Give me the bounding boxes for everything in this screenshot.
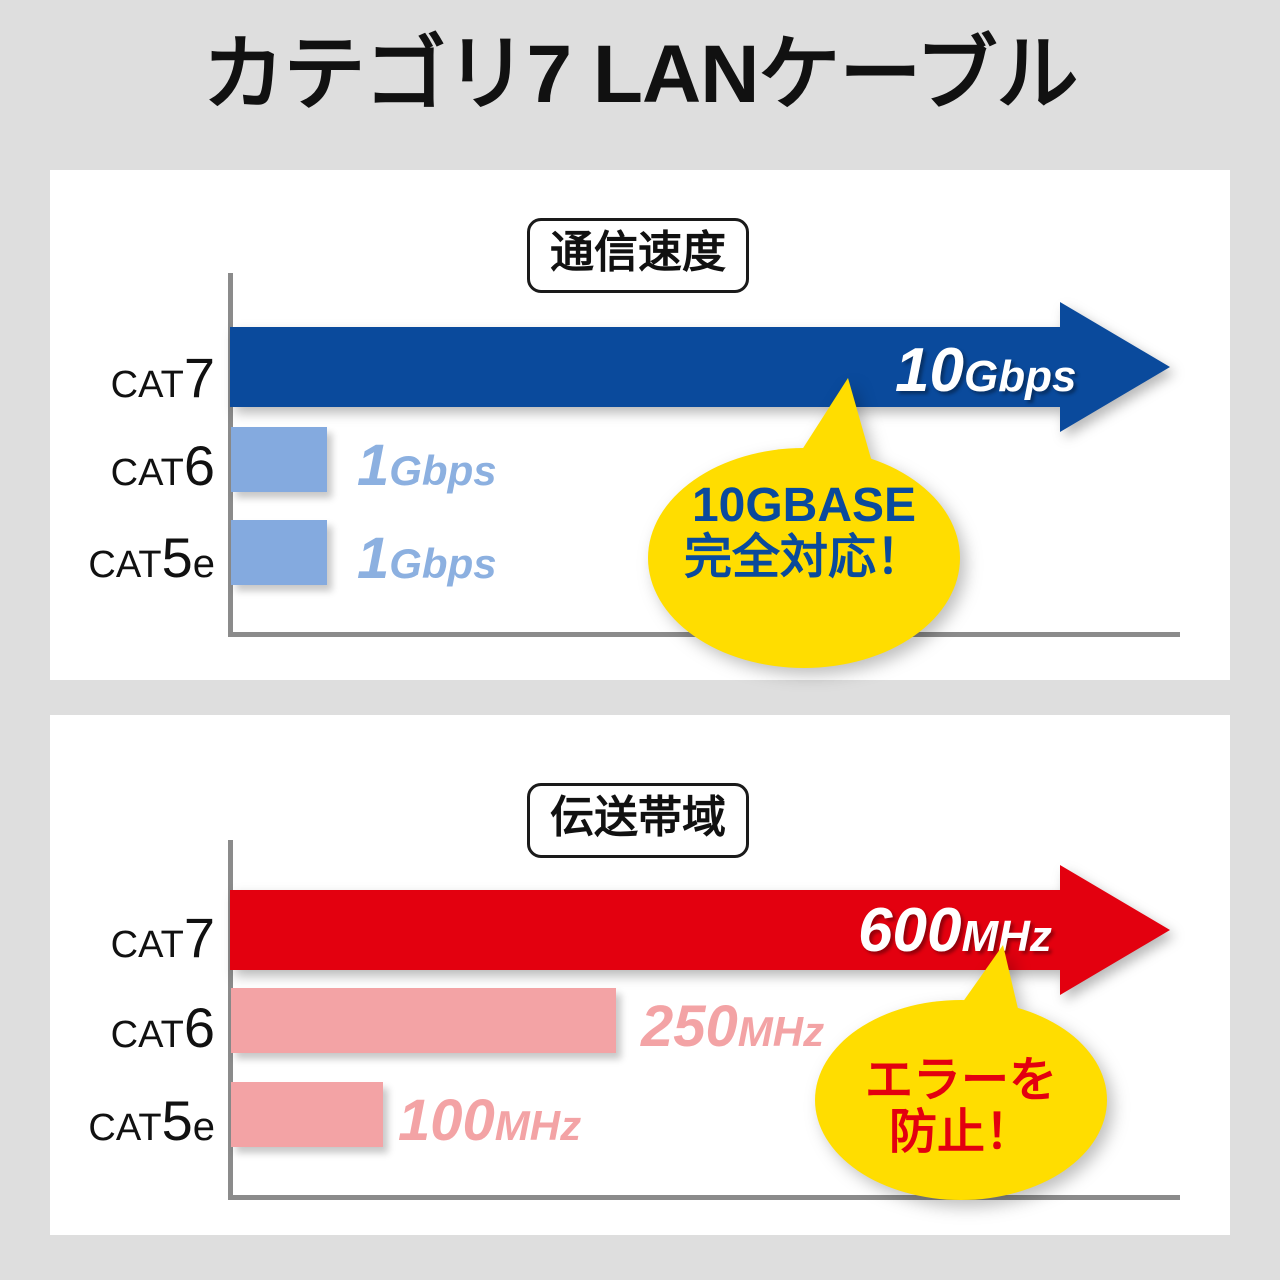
speed-value-label-cat6: 1Gbps bbox=[357, 437, 497, 495]
cat-number: 6 bbox=[184, 996, 215, 1059]
bandwidth-value-label-cat6: 250MHz bbox=[641, 998, 824, 1056]
bandwidth-bar-cat6 bbox=[231, 988, 616, 1053]
callout-text-bandwidth: エラーを 防止！ bbox=[815, 1055, 1107, 1159]
cat-word: CAT bbox=[88, 544, 161, 586]
cat-number: 7 bbox=[184, 906, 215, 969]
cat-number: 5 bbox=[162, 526, 193, 589]
value-unit: Gbps bbox=[389, 540, 496, 587]
callout-line-1: エラーを bbox=[815, 1055, 1107, 1107]
cat-word: CAT bbox=[111, 1014, 184, 1056]
cat-word: CAT bbox=[111, 924, 184, 966]
value-unit: MHz bbox=[738, 1008, 824, 1055]
page-title: カテゴリ7 LANケーブル bbox=[0, 28, 1280, 122]
callout-line-1: 10GBASE bbox=[648, 480, 960, 532]
speed-category-label-cat6: CAT6 bbox=[75, 433, 215, 498]
callout-text-speed: 10GBASE 完全対応！ bbox=[648, 480, 960, 584]
chart-header-speed: 通信速度 bbox=[527, 218, 749, 293]
callout-line-2: 完全対応！ bbox=[648, 532, 960, 584]
value-number: 250 bbox=[641, 994, 738, 1059]
callout-line-2: 防止！ bbox=[815, 1107, 1107, 1159]
infographic-root: カテゴリ7 LANケーブル 通信速度 CAT7 CAT6 CAT5e 10Gbp… bbox=[0, 0, 1280, 1280]
bandwidth-bar-cat5e bbox=[231, 1082, 383, 1147]
value-number: 100 bbox=[398, 1088, 495, 1153]
cat-number: 5 bbox=[162, 1089, 193, 1152]
cat-word: CAT bbox=[111, 452, 184, 494]
value-unit: Gbps bbox=[389, 447, 496, 494]
cat-number: 6 bbox=[184, 434, 215, 497]
cat-word: CAT bbox=[111, 364, 184, 406]
bandwidth-category-label-cat5e: CAT5e bbox=[65, 1088, 215, 1153]
speed-value-label-cat5e: 1Gbps bbox=[357, 530, 497, 588]
cat-word: CAT bbox=[88, 1107, 161, 1149]
bandwidth-value-label-cat5e: 100MHz bbox=[398, 1092, 581, 1150]
chart-header-bandwidth: 伝送帯域 bbox=[527, 783, 749, 858]
speed-category-label-cat7: CAT7 bbox=[75, 345, 215, 410]
cat-suffix: e bbox=[193, 1105, 215, 1149]
speed-bar-cat6 bbox=[231, 427, 327, 492]
speed-category-label-cat5e: CAT5e bbox=[65, 525, 215, 590]
cat-number: 7 bbox=[184, 346, 215, 409]
value-number: 1 bbox=[357, 433, 389, 498]
value-number: 1 bbox=[357, 526, 389, 591]
speed-bar-cat5e bbox=[231, 520, 327, 585]
bandwidth-category-label-cat6: CAT6 bbox=[75, 995, 215, 1060]
cat-suffix: e bbox=[193, 542, 215, 586]
bandwidth-category-label-cat7: CAT7 bbox=[75, 905, 215, 970]
value-unit: Gbps bbox=[964, 352, 1076, 401]
value-unit: MHz bbox=[495, 1102, 581, 1149]
